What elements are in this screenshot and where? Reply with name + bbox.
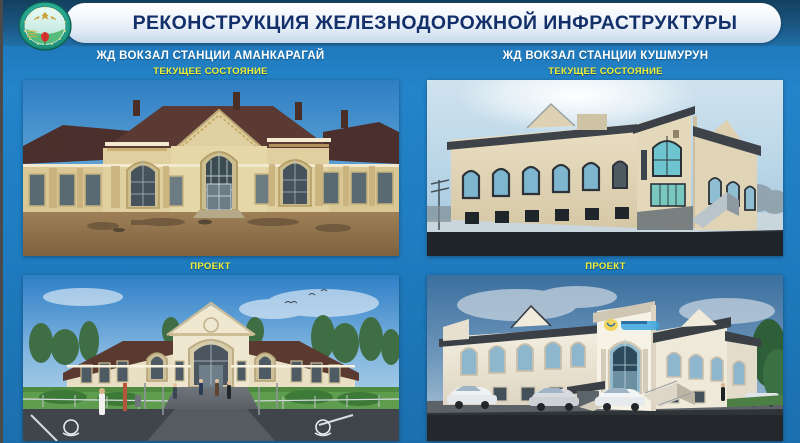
akimat-emblem-icon	[12, 1, 78, 51]
page-title: РЕКОНСТРУКЦИЯ ЖЕЛЕЗНОДОРОЖНОЙ ИНФРАСТРУК…	[109, 12, 738, 35]
label-project-right: ПРОЕКТ	[428, 261, 783, 272]
label-current-state-right: ТЕКУЩЕЕ СОСТОЯНИЕ	[428, 66, 783, 77]
label-current-state-left: ТЕКУЩЕЕ СОСТОЯНИЕ	[23, 66, 398, 77]
amankaragay-project-render	[23, 275, 399, 441]
amankaragay-current-photo	[23, 80, 399, 256]
column-title-kushmurun: ЖД ВОКЗАЛ СТАНЦИИ КУШМУРУН	[428, 50, 783, 62]
slide-header-bar: РЕКОНСТРУКЦИЯ ЖЕЛЕЗНОДОРОЖНОЙ ИНФРАСТРУК…	[65, 3, 781, 43]
presentation-slide: РЕКОНСТРУКЦИЯ ЖЕЛЕЗНОДОРОЖНОЙ ИНФРАСТРУК…	[0, 0, 800, 443]
column-title-amankaragay: ЖД ВОКЗАЛ СТАНЦИИ АМАНКАРАГАЙ	[23, 50, 398, 62]
kushmurun-current-photo	[427, 80, 783, 256]
kushmurun-project-render	[427, 275, 783, 441]
label-project-left: ПРОЕКТ	[23, 261, 398, 272]
